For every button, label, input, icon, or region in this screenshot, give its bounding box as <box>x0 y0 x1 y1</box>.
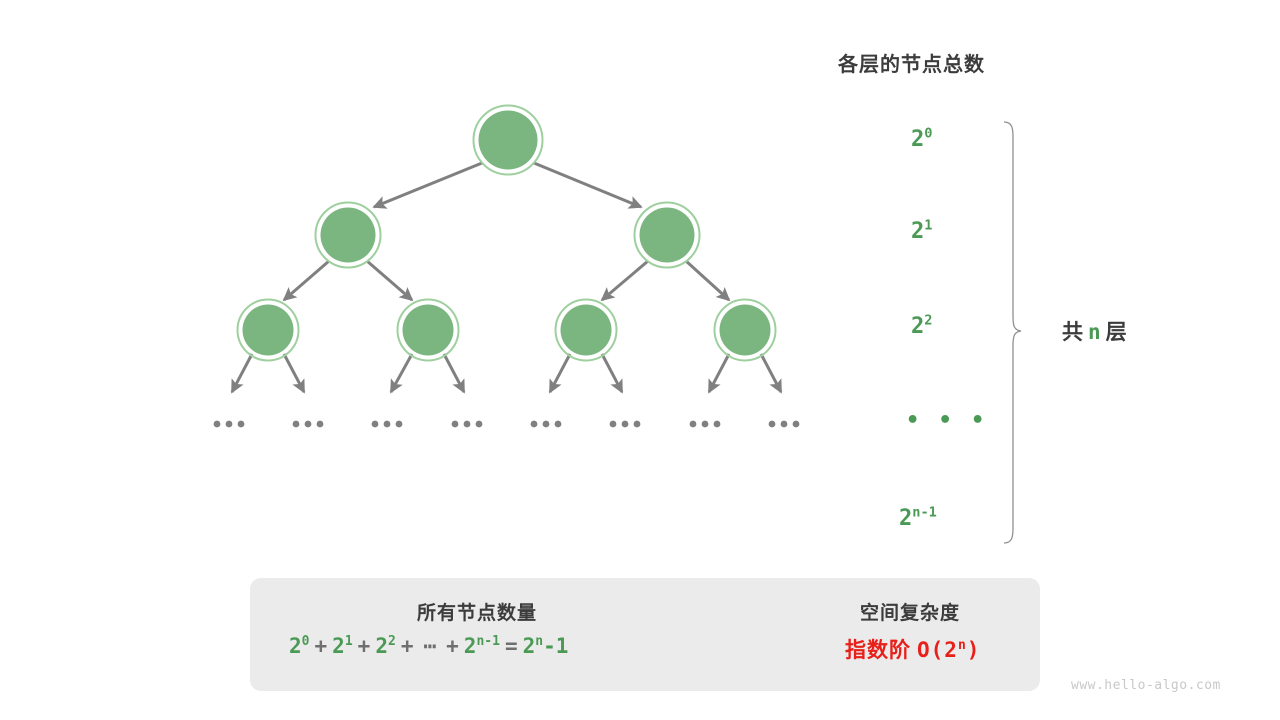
total-levels-n: n <box>1084 320 1106 344</box>
tree-node <box>316 203 381 268</box>
level-label-base: 2 <box>911 314 924 339</box>
formula-term-last: 2n-1 <box>464 634 500 658</box>
complexity-big-o-exp: n <box>958 638 967 653</box>
tree-node-root <box>474 106 543 175</box>
formula-term-0: 20 <box>289 634 310 658</box>
formula-result: 2n-1 <box>523 634 569 658</box>
formula-plus: + <box>441 634 464 658</box>
formula-term-base: 2 <box>375 634 388 658</box>
level-label-0: 20 <box>911 127 932 152</box>
formula-plus: + <box>396 634 419 658</box>
level-label-base: 2 <box>911 219 924 244</box>
level-label-exponent: 1 <box>924 218 932 234</box>
formula-term-base: 2 <box>332 634 345 658</box>
level-label-2: 22 <box>911 314 932 339</box>
level-label-exponent: 2 <box>924 313 932 329</box>
watermark: www.hello-algo.com <box>1071 678 1221 693</box>
formula-ellipsis: ⋯ <box>418 634 441 658</box>
level-label-exponent: n-1 <box>912 505 937 521</box>
tree-node <box>556 300 617 361</box>
formula-term-1: 21 <box>332 634 353 658</box>
formula-term-exp: 1 <box>345 634 353 649</box>
levels-brace <box>1004 122 1021 543</box>
formula-result-exp: n <box>535 634 543 649</box>
formula-term-exp: 2 <box>388 634 396 649</box>
tree-node <box>238 300 299 361</box>
formula-result-base: 2 <box>523 634 536 658</box>
formula-plus: + <box>310 634 333 658</box>
summary-nodes-title: 所有节点数量 <box>417 598 537 625</box>
complexity-big-o-prefix: O(2 <box>917 638 958 662</box>
formula-term-2: 22 <box>375 634 396 658</box>
diagram-canvas: 各层的节点总数 20 21 22 • • • 2n-1 共n层 所有节点数量 2… <box>0 0 1280 720</box>
complexity-big-o: O(2n) <box>911 638 980 662</box>
total-levels-label: 共n层 <box>1062 316 1128 346</box>
complexity-label: 指数阶 <box>845 639 911 662</box>
complexity-big-o-suffix: ) <box>967 638 981 662</box>
tree-node <box>398 300 459 361</box>
level-label-base: 2 <box>899 506 912 531</box>
summary-complexity-value: 指数阶O(2n) <box>845 634 980 664</box>
formula-result-tail: -1 <box>543 634 568 658</box>
formula-term-exp: n-1 <box>476 634 500 649</box>
total-levels-prefix: 共 <box>1062 321 1084 344</box>
total-levels-suffix: 层 <box>1106 321 1128 344</box>
tree-nodes <box>238 106 776 361</box>
tree-node <box>715 300 776 361</box>
formula-term-exp: 0 <box>302 634 310 649</box>
formula-plus: + <box>353 634 376 658</box>
formula-term-base: 2 <box>289 634 302 658</box>
formula-term-base: 2 <box>464 634 477 658</box>
summary-complexity-title: 空间复杂度 <box>860 598 960 625</box>
tree-node <box>635 203 700 268</box>
summary-formula: 20+21+22+⋯+2n-1=2n-1 <box>289 634 568 658</box>
level-label-last: 2n-1 <box>899 506 937 531</box>
tree-edges <box>232 163 781 392</box>
level-label-ellipsis: • • • <box>906 408 987 433</box>
level-label-base: 2 <box>911 127 924 152</box>
formula-equals: = <box>500 634 523 658</box>
level-label-1: 21 <box>911 219 932 244</box>
leaf-ellipsis-dots <box>214 421 800 428</box>
leaf-ellipsis-row <box>0 411 1280 437</box>
levels-title: 各层的节点总数 <box>838 48 985 77</box>
level-label-exponent: 0 <box>924 126 932 142</box>
